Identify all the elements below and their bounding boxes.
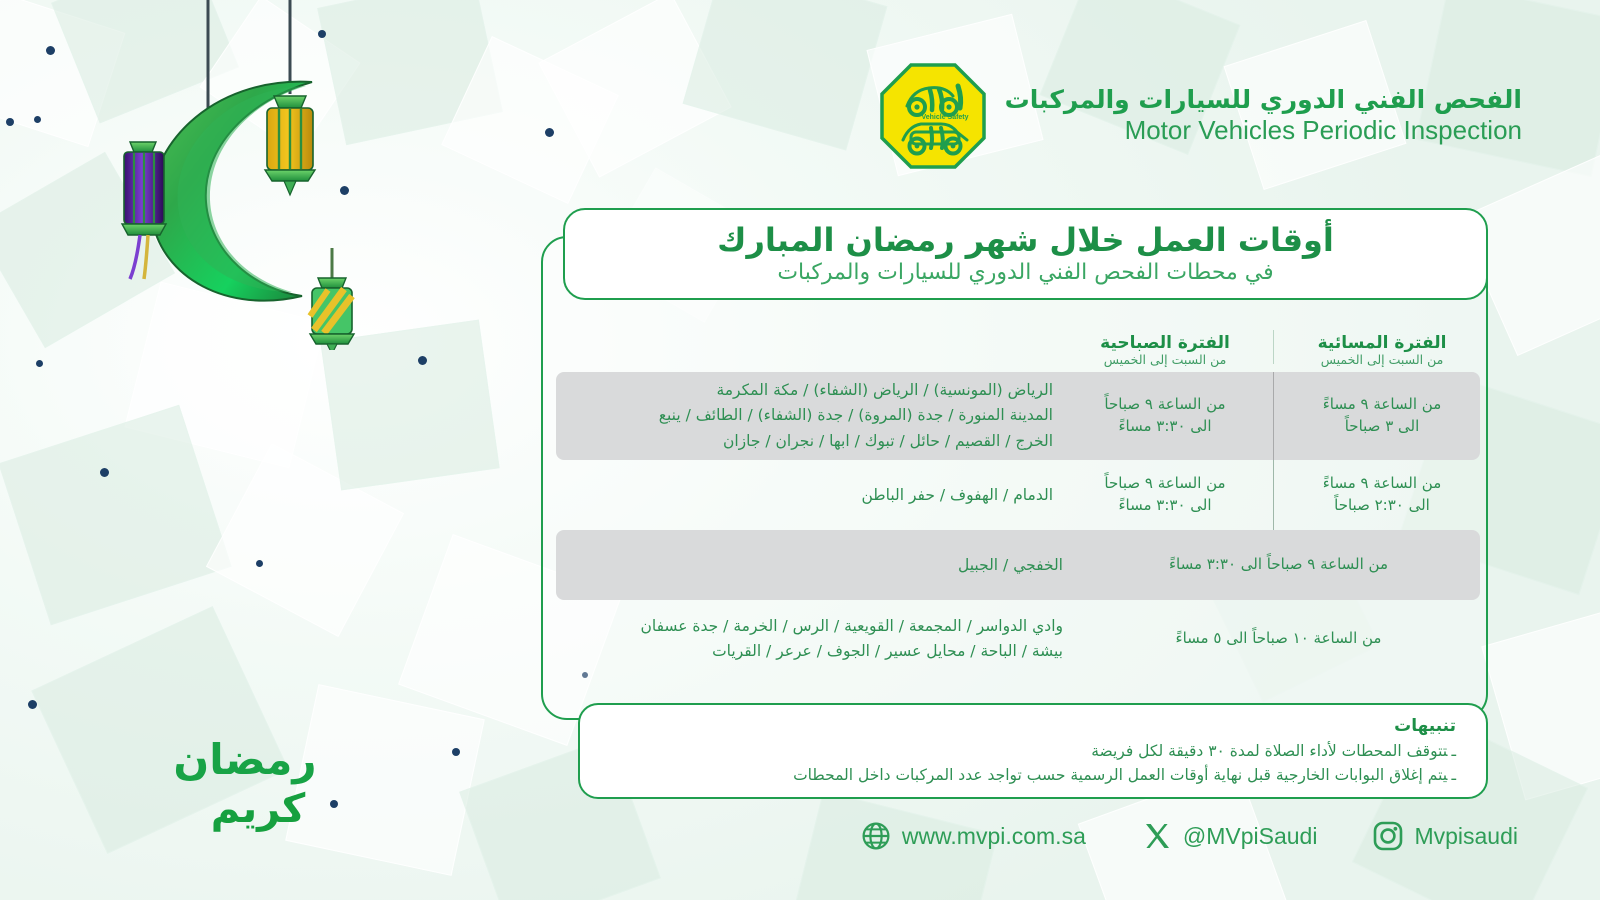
social-footer: Mvpisaudi @MVpiSaudi www.mvpi.com.sa xyxy=(828,812,1518,860)
brand-name-arabic: الفحص الفني الدوري للسيارات والمركبات xyxy=(1005,85,1522,116)
note-bullet-1: ـ xyxy=(1447,742,1456,760)
row-1-morning-line-2: الى ٣:٣٠ مساءً xyxy=(1073,416,1257,438)
row-4-cities-line-2: بيشة / الباحة / محايل عسير / الجوف / عرع… xyxy=(566,639,1063,664)
row-2-evening-line-1: من الساعة ٩ مساءً xyxy=(1290,473,1474,495)
evening-header-note: من السبت إلى الخميس xyxy=(1284,353,1480,368)
column-header-morning: الفترة الصباحية من السبت إلى الخميس xyxy=(1067,333,1263,368)
table-row: من الساعة ٩ مساءً الى ٣ صباحاً من الساعة… xyxy=(556,372,1480,460)
page-title: أوقات العمل خلال شهر رمضان المبارك xyxy=(717,223,1334,259)
row-3-cities: الخفجي / الجبيل xyxy=(556,556,1077,575)
row-4-hours: من الساعة ١٠ صباحاً الى ٥ مساءً xyxy=(1077,628,1480,650)
poster-canvas: رمضان كريم الفحص الفني الدوري للسيارات و… xyxy=(0,0,1600,900)
row-2-evening-hours: من الساعة ٩ مساءً الى ٢:٣٠ صباحاً xyxy=(1284,473,1480,517)
morning-header-note: من السبت إلى الخميس xyxy=(1067,353,1263,368)
svg-text:رمضان: رمضان xyxy=(173,735,316,784)
row-2-evening-line-2: الى ٢:٣٠ صباحاً xyxy=(1290,495,1474,517)
note-item: ـيتم إغلاق البوابات الخارجية قبل نهاية أ… xyxy=(606,763,1456,787)
row-3-hours: من الساعة ٩ صباحاً الى ٣:٣٠ مساءً xyxy=(1077,554,1480,576)
page-subtitle: في محطات الفحص الفني الدوري للسيارات وال… xyxy=(777,261,1273,285)
row-2-morning-line-1: من الساعة ٩ صباحاً xyxy=(1073,473,1257,495)
globe-icon xyxy=(861,821,891,851)
table-row: من الساعة ٩ مساءً الى ٢:٣٠ صباحاً من الس… xyxy=(556,460,1480,530)
ramadan-crescent-lanterns-art xyxy=(60,0,400,350)
schedule-table: الفترة المسائية من السبت إلى الخميس الفت… xyxy=(556,320,1480,678)
row-1-evening-line-2: الى ٣ صباحاً xyxy=(1290,416,1474,438)
row-2-morning-hours: من الساعة ٩ صباحاً الى ٣:٣٠ مساءً xyxy=(1067,473,1263,517)
website-url: www.mvpi.com.sa xyxy=(902,823,1086,850)
notes-panel: تنبيهات ـتتوقف المحطات لأداء الصلاة لمدة… xyxy=(578,703,1488,799)
row-1-evening-line-1: من الساعة ٩ مساءً xyxy=(1290,394,1474,416)
social-link-website[interactable]: www.mvpi.com.sa xyxy=(861,821,1086,851)
notes-title: تنبيهات xyxy=(606,715,1456,739)
instagram-handle: Mvpisaudi xyxy=(1414,823,1518,850)
x-handle: @MVpiSaudi xyxy=(1183,823,1318,850)
row-3-cities-line-1: الخفجي / الجبيل xyxy=(566,556,1063,575)
svg-text:Vehicle Safety: Vehicle Safety xyxy=(921,114,968,121)
header-divider xyxy=(1273,330,1274,364)
row-2-cities: الدمام / الهفوف / حفر الباطن xyxy=(556,486,1067,505)
row-1-morning-hours: من الساعة ٩ صباحاً الى ٣:٣٠ مساءً xyxy=(1067,394,1263,438)
row-1-divider xyxy=(1273,372,1274,460)
brand-text-block: الفحص الفني الدوري للسيارات والمركبات Mo… xyxy=(1005,85,1522,147)
evening-header-title: الفترة المسائية xyxy=(1284,333,1480,353)
column-header-evening: الفترة المسائية من السبت إلى الخميس xyxy=(1284,333,1480,368)
row-1-cities-line-1: الرياض (المونسية) / الرياض (الشفاء) / مك… xyxy=(566,378,1053,403)
brand-name-english: Motor Vehicles Periodic Inspection xyxy=(1005,115,1522,147)
social-link-instagram[interactable]: Mvpisaudi xyxy=(1373,821,1518,851)
title-banner: أوقات العمل خلال شهر رمضان المبارك في مح… xyxy=(563,208,1488,300)
note-item: ـتتوقف المحطات لأداء الصلاة لمدة ٣٠ دقيق… xyxy=(606,739,1456,763)
svg-text:كريم: كريم xyxy=(211,786,306,832)
note-bullet-2: ـ xyxy=(1447,766,1456,784)
morning-header-title: الفترة الصباحية xyxy=(1067,333,1263,353)
social-link-x[interactable]: @MVpiSaudi xyxy=(1142,821,1318,851)
row-2-divider xyxy=(1273,460,1274,530)
brand-header: الفحص الفني الدوري للسيارات والمركبات Mo… xyxy=(879,62,1522,170)
mvpi-logo: Vehicle Safety xyxy=(879,62,987,170)
row-2-morning-line-2: الى ٣:٣٠ مساءً xyxy=(1073,495,1257,517)
table-row: من الساعة ١٠ صباحاً الى ٥ مساءً وادي الد… xyxy=(556,600,1480,678)
ramadan-kareem-calligraphy: رمضان كريم xyxy=(140,722,350,840)
row-4-cities-line-1: وادي الدواسر / المجمعة / القويعية / الرس… xyxy=(566,614,1063,639)
row-1-evening-hours: من الساعة ٩ مساءً الى ٣ صباحاً xyxy=(1284,394,1480,438)
row-1-cities-line-2: المدينة المنورة / جدة (المروة) / جدة (ال… xyxy=(566,403,1053,428)
instagram-icon xyxy=(1373,821,1403,851)
row-2-cities-line-1: الدمام / الهفوف / حفر الباطن xyxy=(566,486,1053,505)
table-row: من الساعة ٩ صباحاً الى ٣:٣٠ مساءً الخفجي… xyxy=(556,530,1480,600)
note-text-2: يتم إغلاق البوابات الخارجية قبل نهاية أو… xyxy=(793,766,1447,784)
row-1-cities: الرياض (المونسية) / الرياض (الشفاء) / مك… xyxy=(556,378,1067,453)
row-4-cities: وادي الدواسر / المجمعة / القويعية / الرس… xyxy=(556,614,1077,664)
x-twitter-icon xyxy=(1142,821,1172,851)
note-text-1: تتوقف المحطات لأداء الصلاة لمدة ٣٠ دقيقة… xyxy=(1091,742,1447,760)
table-header-row: الفترة المسائية من السبت إلى الخميس الفت… xyxy=(556,320,1480,372)
row-1-morning-line-1: من الساعة ٩ صباحاً xyxy=(1073,394,1257,416)
row-1-cities-line-3: الخرج / القصيم / حائل / تبوك / ابها / نج… xyxy=(566,429,1053,454)
